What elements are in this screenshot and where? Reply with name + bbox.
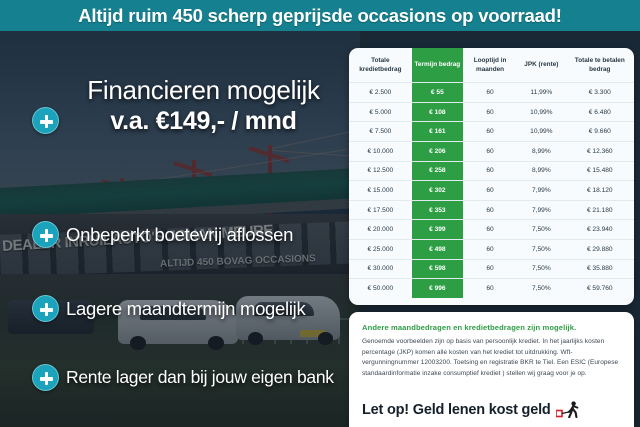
table-cell: 60	[463, 142, 517, 162]
table-cell: 7,99%	[517, 200, 565, 220]
table-cell: 60	[463, 181, 517, 201]
table-cell: € 35.880	[566, 259, 634, 279]
table-cell: 7,50%	[517, 240, 565, 260]
headline-block: Financieren mogelijk v.a. €149,- / mnd	[66, 76, 341, 135]
disclaimer-title: Andere maandbedragen en kredietbedragen …	[362, 323, 621, 332]
benefit-item-1: Onbeperkt boetevrij aflossen	[66, 224, 346, 246]
table-cell: € 20.000	[349, 220, 412, 240]
afm-warning: Let op! Geld lenen kost geld	[362, 401, 621, 418]
th-jpk: JPK (rente)	[517, 48, 565, 83]
table-cell: € 9.660	[566, 122, 634, 142]
credit-table-card: Totale kredietbedrag Termijn bedrag Loop…	[349, 48, 634, 305]
table-cell: € 15.000	[349, 181, 412, 201]
table-cell: 11,99%	[517, 83, 565, 103]
th-totale-te-betalen: Totale te betalen bedrag	[566, 48, 634, 83]
cell-termijn-bedrag: € 598	[412, 259, 463, 279]
table-cell: 7,99%	[517, 181, 565, 201]
table-cell: 60	[463, 259, 517, 279]
table-cell: € 7.500	[349, 122, 412, 142]
table-cell: € 21.180	[566, 200, 634, 220]
table-cell: € 6.480	[566, 102, 634, 122]
plus-icon	[32, 364, 59, 391]
table-row: € 15.000€ 302607,99%€ 18.120	[349, 181, 634, 201]
table-cell: 60	[463, 240, 517, 260]
headline-line-1: Financieren mogelijk	[66, 76, 341, 105]
disclaimer-card: Andere maandbedragen en kredietbedragen …	[349, 312, 634, 427]
table-cell: € 25.000	[349, 240, 412, 260]
table-header-row: Totale kredietbedrag Termijn bedrag Loop…	[349, 48, 634, 83]
table-cell: 60	[463, 200, 517, 220]
table-cell: 7,50%	[517, 259, 565, 279]
table-cell: € 3.300	[566, 83, 634, 103]
plus-icon	[32, 221, 59, 248]
table-cell: 60	[463, 161, 517, 181]
table-cell: € 12.500	[349, 161, 412, 181]
table-row: € 17.500€ 353607,99%€ 21.180	[349, 200, 634, 220]
table-row: € 5.000€ 1086010,99%€ 6.480	[349, 102, 634, 122]
plus-icon	[32, 107, 59, 134]
table-cell: € 17.500	[349, 200, 412, 220]
table-cell: 10,99%	[517, 102, 565, 122]
table-cell: € 29.880	[566, 240, 634, 260]
table-cell: € 50.000	[349, 279, 412, 298]
cell-termijn-bedrag: € 258	[412, 161, 463, 181]
table-row: € 2.500€ 556011,99%€ 3.300	[349, 83, 634, 103]
cell-termijn-bedrag: € 498	[412, 240, 463, 260]
disclaimer-body: Genoemde voorbeelden zijn op basis van p…	[362, 337, 621, 379]
cell-termijn-bedrag: € 108	[412, 102, 463, 122]
left-benefits-column: Financieren mogelijk v.a. €149,- / mnd O…	[0, 31, 345, 427]
table-cell: € 10.000	[349, 142, 412, 162]
table-row: € 10.000€ 206608,99%€ 12.360	[349, 142, 634, 162]
table-row: € 25.000€ 498607,50%€ 29.880	[349, 240, 634, 260]
table-cell: 7,50%	[517, 279, 565, 298]
table-cell: 7,50%	[517, 220, 565, 240]
th-termijn-bedrag: Termijn bedrag	[412, 48, 463, 83]
table-cell: 60	[463, 122, 517, 142]
headline-line-2: v.a. €149,- / mnd	[66, 107, 341, 135]
th-totale-kredietbedrag: Totale kredietbedrag	[349, 48, 412, 83]
table-cell: € 59.760	[566, 279, 634, 298]
benefit-item-2: Lagere maandtermijn mogelijk	[66, 298, 346, 320]
afm-warning-text: Let op! Geld lenen kost geld	[362, 402, 551, 418]
table-cell: € 12.360	[566, 142, 634, 162]
table-cell: € 5.000	[349, 102, 412, 122]
table-cell: 8,99%	[517, 161, 565, 181]
table-row: € 12.500€ 258608,99%€ 15.480	[349, 161, 634, 181]
table-cell: € 23.940	[566, 220, 634, 240]
cell-termijn-bedrag: € 353	[412, 200, 463, 220]
table-cell: 60	[463, 83, 517, 103]
table-row: € 20.000€ 399607,50%€ 23.940	[349, 220, 634, 240]
table-cell: € 30.000	[349, 259, 412, 279]
cell-termijn-bedrag: € 399	[412, 220, 463, 240]
table-cell: € 18.120	[566, 181, 634, 201]
table-cell: € 2.500	[349, 83, 412, 103]
cell-termijn-bedrag: € 302	[412, 181, 463, 201]
plus-icon	[32, 295, 59, 322]
table-row: € 7.500€ 1616010,99%€ 9.660	[349, 122, 634, 142]
credit-table: Totale kredietbedrag Termijn bedrag Loop…	[349, 48, 634, 298]
table-row: € 30.000€ 598607,50%€ 35.880	[349, 259, 634, 279]
table-cell: 60	[463, 102, 517, 122]
table-cell: 8,99%	[517, 142, 565, 162]
cell-termijn-bedrag: € 206	[412, 142, 463, 162]
benefit-item-3: Rente lager dan bij jouw eigen bank	[66, 367, 346, 388]
table-cell: 10,99%	[517, 122, 565, 142]
afm-running-man-icon	[556, 401, 580, 418]
th-looptijd: Looptijd in maanden	[463, 48, 517, 83]
cell-termijn-bedrag: € 996	[412, 279, 463, 298]
top-promo-banner: Altijd ruim 450 scherp geprijsde occasio…	[0, 0, 640, 31]
table-row: € 50.000€ 996607,50%€ 59.760	[349, 279, 634, 298]
table-cell: 60	[463, 279, 517, 298]
table-cell: 60	[463, 220, 517, 240]
cell-termijn-bedrag: € 161	[412, 122, 463, 142]
table-cell: € 15.480	[566, 161, 634, 181]
banner-text: Altijd ruim 450 scherp geprijsde occasio…	[78, 5, 562, 27]
table-body: € 2.500€ 556011,99%€ 3.300€ 5.000€ 10860…	[349, 83, 634, 298]
cell-termijn-bedrag: € 55	[412, 83, 463, 103]
